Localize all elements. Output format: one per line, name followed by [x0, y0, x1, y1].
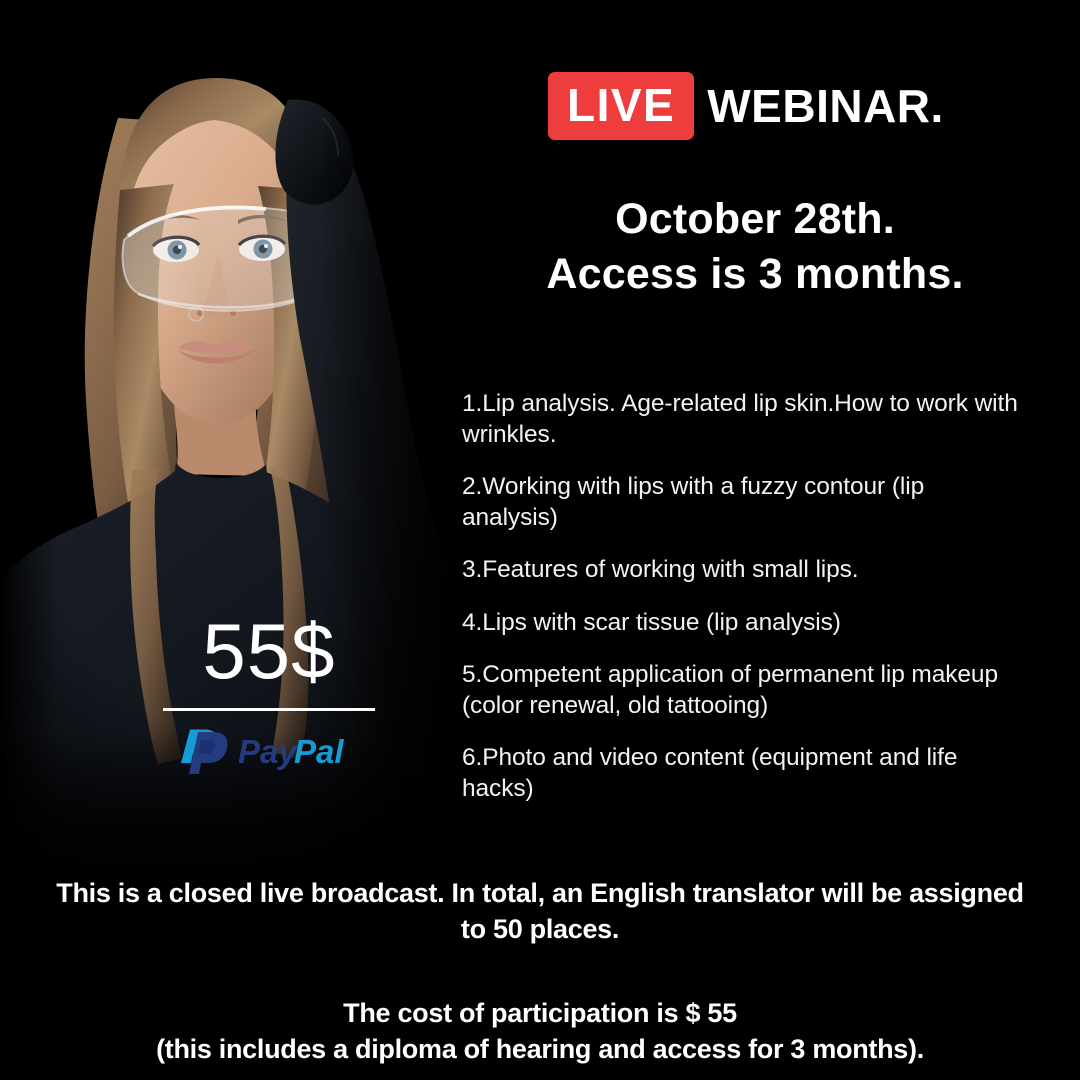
topics-list: 1.Lip analysis. Age-related lip skin.How… — [462, 388, 1022, 804]
paypal-pal-text: Pal — [294, 733, 344, 770]
price-divider — [163, 708, 375, 711]
header: LIVE WEBINAR. — [548, 72, 944, 140]
paypal-logo: Pay Pal — [163, 728, 375, 774]
live-badge-label: LIVE — [567, 82, 675, 128]
list-item: 6.Photo and video content (equipment and… — [462, 742, 1022, 804]
date-heading-line-2: Access is 3 months. — [460, 247, 1050, 302]
list-item: 4.Lips with scar tissue (lip analysis) — [462, 607, 1022, 638]
date-heading: October 28th. Access is 3 months. — [460, 192, 1050, 302]
footer: This is a closed live broadcast. In tota… — [0, 876, 1080, 1068]
paypal-logo-svg: Pay Pal — [180, 728, 358, 774]
price-block: 55$ Pay Pal — [163, 612, 375, 774]
price-amount: 55$ — [163, 612, 375, 690]
paypal-pay-text: Pay — [238, 733, 298, 770]
page-title: WEBINAR. — [707, 83, 944, 129]
live-badge: LIVE — [548, 72, 694, 140]
footer-paragraph-2-line-2: (this includes a diploma of hearing and … — [48, 1032, 1032, 1068]
paypal-monogram-icon — [181, 729, 227, 774]
promo-poster: LIVE WEBINAR. October 28th. Access is 3 … — [0, 0, 1080, 1080]
list-item: 3.Features of working with small lips. — [462, 554, 1022, 585]
footer-paragraph-1: This is a closed live broadcast. In tota… — [0, 876, 1080, 948]
list-item: 1.Lip analysis. Age-related lip skin.How… — [462, 388, 1022, 450]
footer-paragraph-2-line-1: The cost of participation is $ 55 — [48, 996, 1032, 1032]
date-heading-line-1: October 28th. — [460, 192, 1050, 247]
list-item: 5.Competent application of permanent lip… — [462, 659, 1022, 721]
list-item: 2.Working with lips with a fuzzy contour… — [462, 471, 1022, 533]
footer-paragraph-2: The cost of participation is $ 55 (this … — [0, 996, 1080, 1068]
